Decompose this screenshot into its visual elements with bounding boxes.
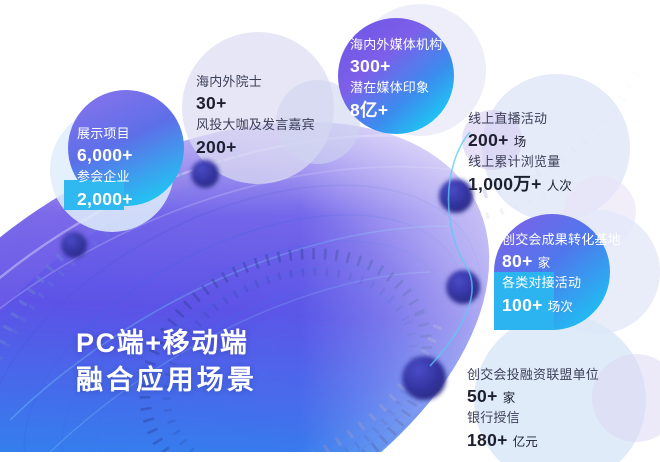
stat-value-1: 80+ 家 bbox=[502, 249, 621, 274]
stat-label-2: 风投大咖及发言嘉宾 bbox=[196, 116, 315, 134]
infographic-canvas: 展示项目 6,000+ 参会企业 2,000+ 海内外院士 30+ 风投大咖及发… bbox=[0, 0, 660, 462]
stat-unit-1: 场 bbox=[514, 135, 527, 149]
stat-block-media: 海内外媒体机构 300+ 潜在媒体印象 8亿+ 次 bbox=[350, 36, 442, 123]
stat-value-2: 1,000万+ 人次 bbox=[468, 172, 572, 197]
accent-dot-2 bbox=[191, 160, 219, 188]
stat-block-transformation-base: 创交会成果转化基地 80+ 家 各类对接活动 100+ 场次 bbox=[502, 231, 621, 318]
stat-unit-2: 人次 bbox=[547, 179, 572, 193]
accent-dot-4 bbox=[446, 270, 480, 304]
stat-label-1: 海内外院士 bbox=[196, 73, 315, 91]
stat-block-academicians: 海内外院士 30+ 风投大咖及发言嘉宾 200+ bbox=[196, 73, 315, 160]
stat-value-2: 8亿+ bbox=[350, 98, 442, 123]
stat-block-investment-alliance: 创交会投融资联盟单位 50+ 家 银行授信 180+ 亿元 bbox=[467, 366, 599, 453]
headline-line-2: 融合应用场景 bbox=[76, 362, 257, 399]
stat-value-1: 30+ bbox=[196, 91, 315, 116]
stat-unit-2: 场次 bbox=[548, 300, 573, 314]
stat-value-2: 2,000+ bbox=[77, 187, 133, 212]
stat-label-1: 创交会成果转化基地 bbox=[502, 231, 621, 249]
stat-value-1: 200+ 场 bbox=[468, 128, 572, 153]
stat-label-1: 线上直播活动 bbox=[468, 110, 572, 128]
stat-block-livestream: 线上直播活动 200+ 场 线上累计浏览量 1,000万+ 人次 bbox=[468, 110, 572, 197]
stat-label-2: 线上累计浏览量 bbox=[468, 153, 572, 171]
stat-unit-1: 家 bbox=[538, 256, 551, 270]
stat-value-2: 200+ bbox=[196, 135, 315, 160]
accent-dot-1 bbox=[61, 232, 87, 258]
headline-line-1: PC端+移动端 bbox=[76, 325, 257, 362]
stat-label-1: 展示项目 bbox=[77, 125, 133, 143]
headline: PC端+移动端 融合应用场景 bbox=[76, 325, 257, 400]
stat-value-1: 50+ 家 bbox=[467, 384, 599, 409]
stat-value-1: 300+ bbox=[350, 54, 442, 79]
accent-dot-5 bbox=[402, 356, 446, 400]
stat-unit-2: 亿元 bbox=[513, 435, 538, 449]
stat-block-exhibits: 展示项目 6,000+ 参会企业 2,000+ bbox=[77, 125, 133, 212]
stat-label-1: 海内外媒体机构 bbox=[350, 36, 442, 54]
connector-curve bbox=[430, 132, 472, 366]
stat-value-1: 6,000+ bbox=[77, 143, 133, 168]
stat-label-1: 创交会投融资联盟单位 bbox=[467, 366, 599, 384]
stat-label-2: 各类对接活动 bbox=[502, 274, 621, 292]
stat-label-2: 参会企业 bbox=[77, 168, 133, 186]
stat-label-2: 潜在媒体印象 bbox=[350, 79, 442, 97]
stat-value-2: 100+ 场次 bbox=[502, 293, 621, 318]
stat-value-2: 180+ 亿元 bbox=[467, 428, 599, 453]
stat-label-2: 银行授信 bbox=[467, 409, 599, 427]
stat-unit-1: 家 bbox=[503, 391, 516, 405]
